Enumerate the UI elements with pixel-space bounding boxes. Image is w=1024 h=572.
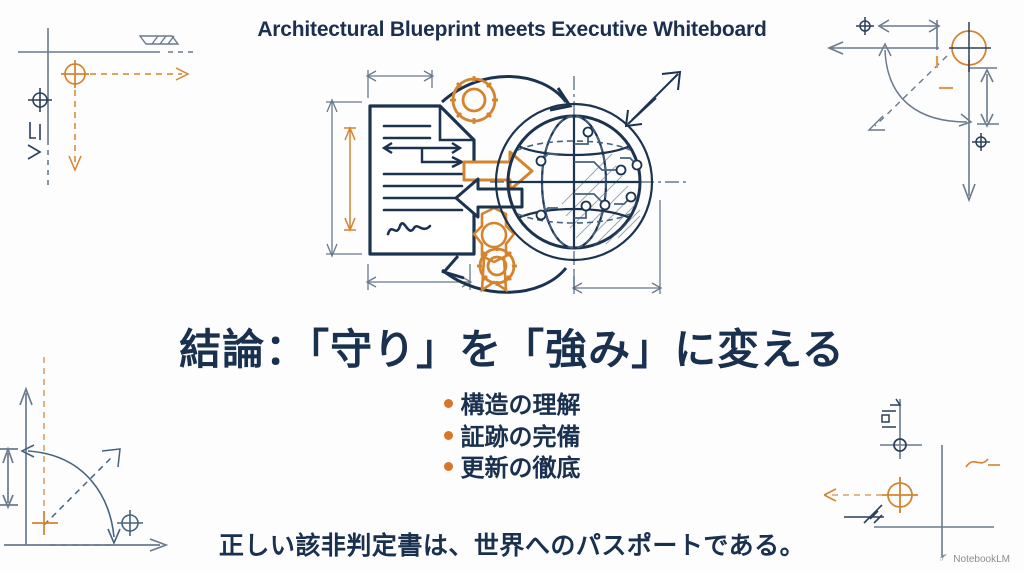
list-item-label: 証跡の完備 <box>461 424 581 451</box>
list-item-label: 更新の徹底 <box>461 455 581 482</box>
watermark: NotebookLM <box>938 552 1010 566</box>
watermark-label: NotebookLM <box>953 554 1010 565</box>
document-to-globe-blueprint-illustration <box>322 58 702 313</box>
list-item: 構造の理解 <box>0 390 1024 422</box>
slide-canvas: Architectural Blueprint meets Executive … <box>0 0 1024 572</box>
bullet-dot-icon <box>444 431 453 440</box>
bullet-dot-icon <box>444 399 453 408</box>
bullet-dot-icon <box>444 462 453 471</box>
headline: 結論：「守り」を「強み」に変える <box>0 316 1024 377</box>
tagline: 正しい該非判定書は、世界へのパスポートである。 <box>0 526 1024 562</box>
page-title: Architectural Blueprint meets Executive … <box>0 18 1024 42</box>
list-item-label: 構造の理解 <box>461 392 581 419</box>
list-item: 更新の徹底 <box>0 453 1024 485</box>
key-points-list: 構造の理解 証跡の完備 更新の徹底 <box>0 390 1024 485</box>
notebooklm-logo-icon <box>938 552 949 566</box>
list-item: 証跡の完備 <box>0 422 1024 454</box>
